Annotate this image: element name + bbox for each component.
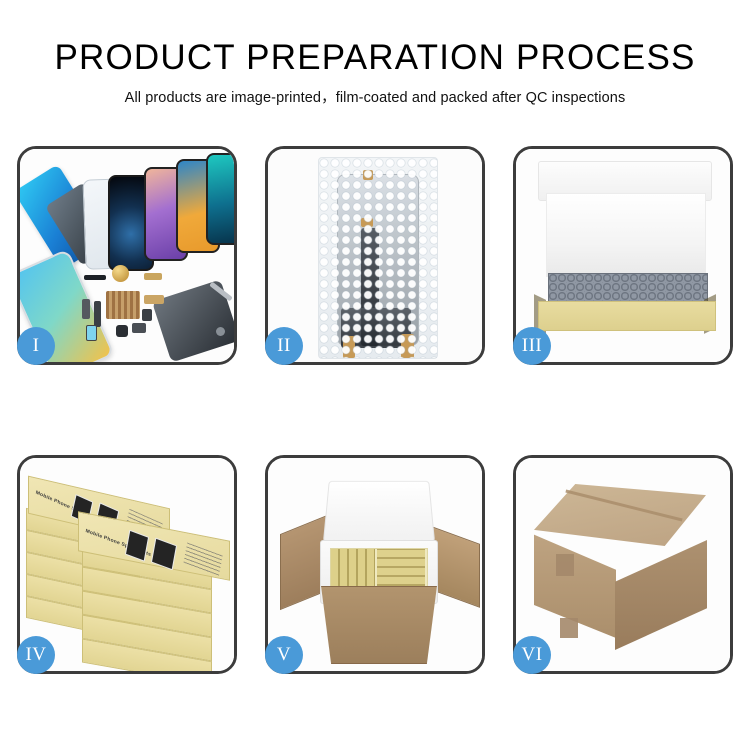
scene-carton-with-foam-box	[268, 458, 482, 671]
scene-bubble-wrapped-screen	[268, 149, 482, 362]
vibration-motor-part	[112, 265, 129, 282]
label-text-lines	[183, 542, 222, 576]
spare-part	[116, 325, 128, 337]
spare-part	[84, 275, 106, 280]
spare-part	[144, 295, 164, 304]
step-6-image	[516, 458, 730, 671]
process-step-card-1: I	[17, 146, 237, 365]
step-4-image: Mobile Phone Spare Parts Mobile Phone Sp…	[20, 458, 234, 671]
step-badge-2: II	[265, 327, 303, 365]
spare-part	[132, 323, 146, 333]
carton-tape	[560, 618, 578, 638]
phone-screen-teal	[206, 153, 234, 245]
scene-stacked-boxes: Mobile Phone Spare Parts Mobile Phone Sp…	[20, 458, 234, 671]
step-badge-5: V	[265, 636, 303, 674]
process-step-card-3: III	[513, 146, 733, 365]
product-swatch	[125, 530, 149, 562]
scene-sealed-carton	[516, 458, 730, 671]
spare-part	[82, 299, 90, 319]
bubble-wrap-bag	[318, 157, 438, 359]
spare-part	[86, 325, 97, 341]
carton-top-face	[534, 484, 706, 546]
spare-part	[216, 327, 225, 336]
product-swatch	[151, 538, 177, 571]
spare-part	[144, 273, 162, 280]
step-badge-6: VI	[513, 636, 551, 674]
foam-box-lid	[323, 481, 435, 543]
yellow-box-front	[538, 301, 716, 331]
bubble-texture	[319, 158, 437, 358]
step-badge-3: III	[513, 327, 551, 365]
step-badge-1: I	[17, 327, 55, 365]
header: PRODUCT PREPARATION PROCESS All products…	[0, 0, 750, 107]
step-1-image	[20, 149, 234, 362]
process-step-card-6: VI	[513, 455, 733, 674]
step-3-image	[516, 149, 730, 362]
scene-open-yellow-box	[516, 149, 730, 362]
carton-right-face	[615, 540, 707, 650]
spare-part	[94, 301, 101, 327]
step-badge-4: IV	[17, 636, 55, 674]
spare-part	[142, 309, 152, 321]
process-step-card-5: V	[265, 455, 485, 674]
step-5-image	[268, 458, 482, 671]
page-title: PRODUCT PREPARATION PROCESS	[0, 40, 750, 77]
product-preparation-infographic: PRODUCT PREPARATION PROCESS All products…	[0, 0, 750, 750]
process-step-card-4: Mobile Phone Spare Parts Mobile Phone Sp…	[17, 455, 237, 674]
carton-tape	[556, 554, 574, 576]
step-2-image	[268, 149, 482, 362]
scene-phones-and-parts	[20, 149, 234, 362]
foam-sheet	[546, 193, 706, 277]
chip-grid-part	[106, 291, 140, 319]
page-subtitle: All products are image-printed，film-coat…	[0, 86, 750, 107]
process-step-card-2: II	[265, 146, 485, 365]
carton-body	[316, 586, 442, 664]
process-step-grid: I II	[17, 146, 733, 674]
